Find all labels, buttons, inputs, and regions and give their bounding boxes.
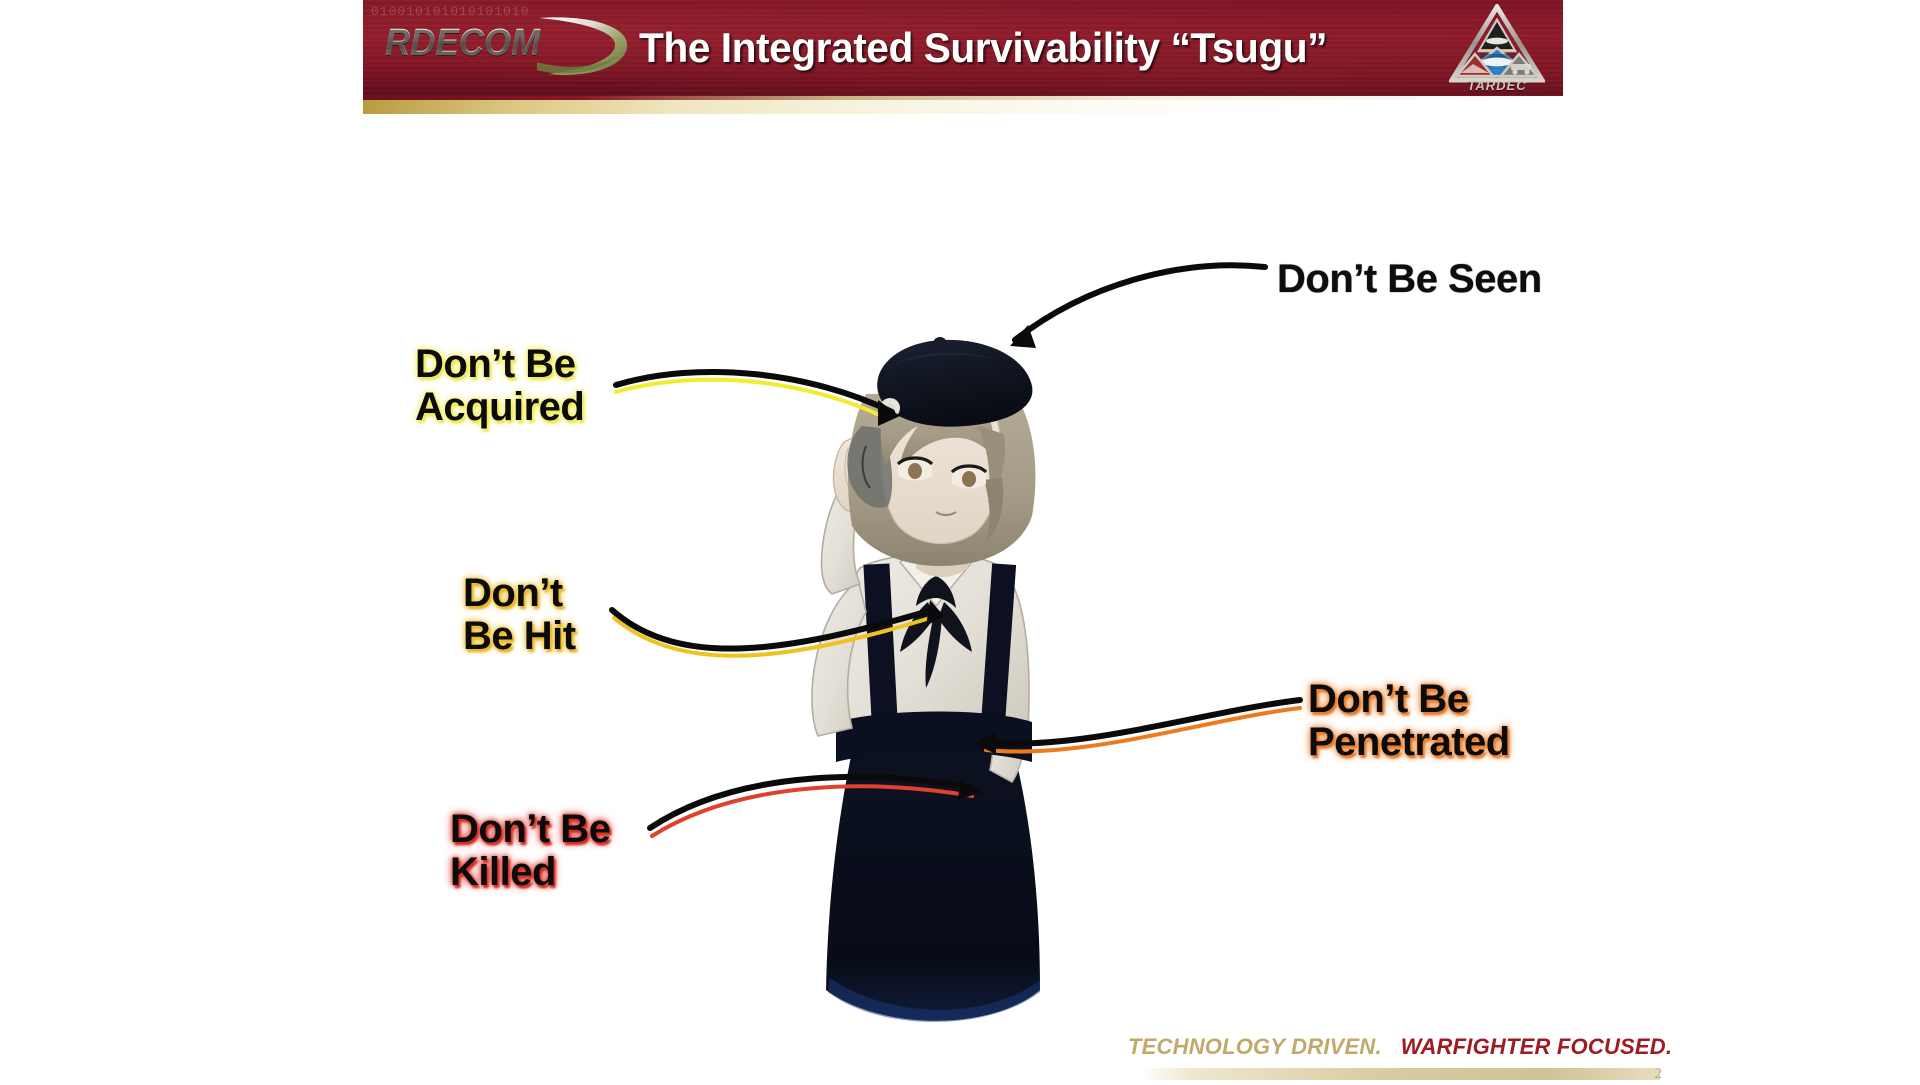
- callout-dont-be-killed: Don’t Be Killed: [450, 808, 610, 894]
- slide-canvas: 010010101010101010 RDECOM The Integrated…: [0, 0, 1920, 1080]
- callout-dont-be-acquired: Don’t Be Acquired: [415, 343, 584, 429]
- footer-rule: [1140, 1068, 1660, 1080]
- page-title: The Integrated Survivability “Tsugu”: [527, 0, 1439, 96]
- footer-technology-driven: TECHNOLOGY DRIVEN.: [1128, 1034, 1382, 1059]
- header-banner: 010010101010101010 RDECOM The Integrated…: [363, 0, 1563, 96]
- tardec-wordmark: TARDEC: [1449, 78, 1545, 93]
- footer-warfighter-focused: WARFIGHTER FOCUSED.: [1401, 1034, 1672, 1059]
- callout-dont-be-penetrated: Don’t Be Penetrated: [1308, 678, 1510, 764]
- footer-bar: TECHNOLOGY DRIVEN. WARFIGHTER FOCUSED. 2: [1128, 1034, 1668, 1080]
- rdecom-wordmark: RDECOM: [385, 22, 540, 65]
- eye-right: [962, 471, 976, 487]
- eye-left: [908, 463, 922, 479]
- footer-tagline: TECHNOLOGY DRIVEN. WARFIGHTER FOCUSED.: [1128, 1034, 1672, 1060]
- tsugu-character-illustration: [740, 330, 1160, 1080]
- tardec-logo: TARDEC: [1449, 4, 1545, 94]
- banner-gold-bar: [363, 96, 1563, 114]
- callout-dont-be-seen: Don’t Be Seen: [1277, 258, 1542, 301]
- page-number: 2: [1655, 1066, 1663, 1083]
- callout-dont-be-hit: Don’t Be Hit: [463, 572, 576, 658]
